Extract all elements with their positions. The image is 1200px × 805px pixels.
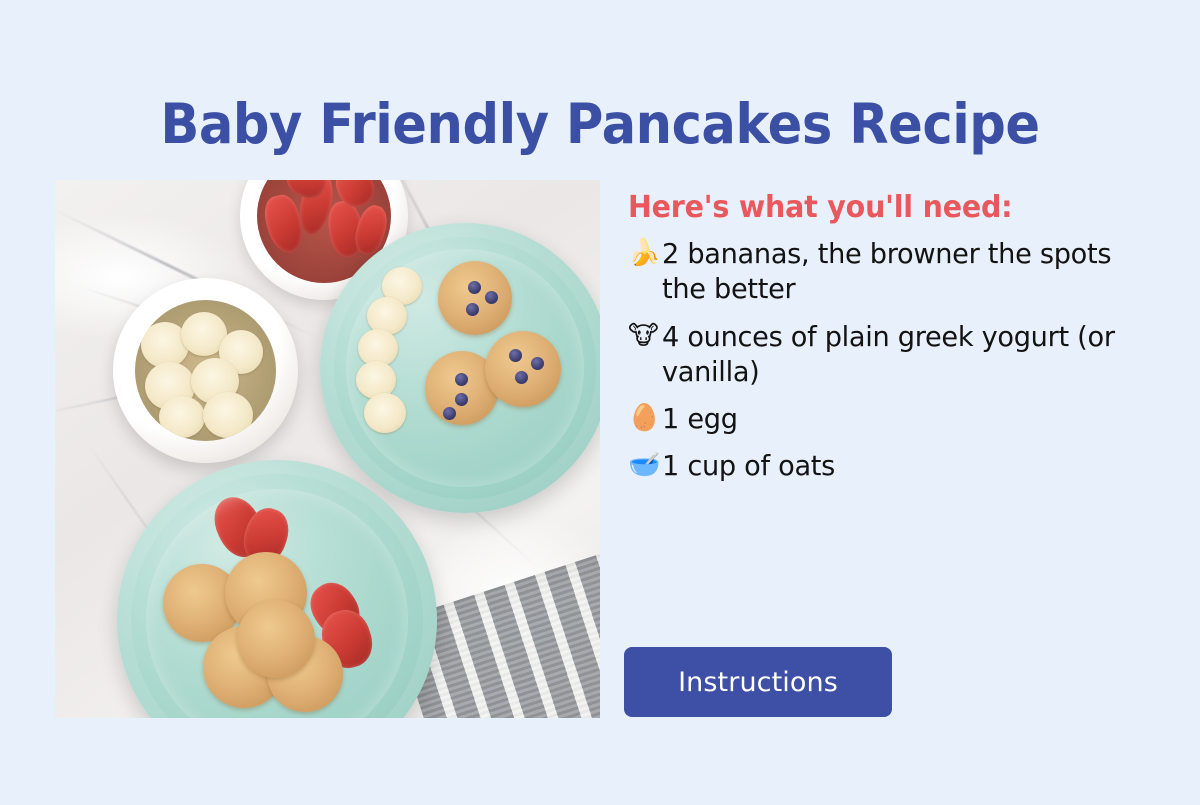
mini-pancake	[425, 351, 499, 425]
blueberry	[443, 407, 456, 420]
ingredient-text: 4 ounces of plain greek yogurt (or vanil…	[662, 319, 1141, 390]
mini-pancake	[438, 261, 512, 335]
ingredient-text: 2 bananas, the browner the spots the bet…	[662, 236, 1141, 307]
cow-face-emoji: 🐮	[628, 319, 662, 353]
list-item: 🥚 1 egg	[628, 401, 1156, 436]
instructions-button[interactable]: Instructions	[624, 647, 892, 717]
blueberry	[531, 357, 544, 370]
strawberry-slice	[315, 604, 379, 674]
banana-slice	[356, 361, 396, 399]
list-item: 🍌 2 bananas, the browner the spots the b…	[628, 236, 1156, 307]
mini-pancake	[267, 636, 343, 712]
mini-pancake	[203, 626, 285, 708]
blueberry	[509, 349, 522, 362]
ingredient-text: 1 cup of oats	[662, 448, 1141, 483]
banana-bowl-contents	[135, 300, 276, 441]
ingredients-list: 🍌 2 bananas, the browner the spots the b…	[628, 236, 1156, 484]
bowl-with-spoon-emoji: 🥣	[628, 448, 662, 482]
list-item: 🥣 1 cup of oats	[628, 448, 1156, 483]
banana-emoji: 🍌	[628, 236, 662, 270]
banana-slice	[364, 393, 406, 433]
blueberry	[515, 371, 528, 384]
banana-bowl	[113, 278, 298, 463]
list-item: 🐮 4 ounces of plain greek yogurt (or van…	[628, 319, 1156, 390]
mini-pancake	[163, 564, 241, 642]
banana-slice	[367, 297, 407, 335]
egg-emoji: 🥚	[628, 401, 662, 435]
strawberry-slice	[302, 574, 369, 643]
banana-slice	[358, 329, 398, 367]
recipe-photo	[55, 180, 600, 718]
strawberry-slice	[206, 489, 273, 564]
banana-slice	[203, 392, 253, 438]
blueberry	[455, 393, 468, 406]
banana-slice	[159, 396, 205, 438]
mini-pancake	[485, 331, 561, 407]
pancake-plate-top	[320, 223, 600, 513]
blueberry	[455, 373, 468, 386]
page-title: Baby Friendly Pancakes Recipe	[42, 94, 1158, 155]
banana-slice	[382, 267, 422, 305]
mini-pancake	[237, 600, 315, 678]
blueberry	[468, 281, 481, 294]
ingredient-text: 1 egg	[662, 401, 1141, 436]
ingredients-heading: Here's what you'll need:	[628, 190, 1130, 225]
mini-pancake	[225, 552, 307, 634]
blueberry	[485, 291, 498, 304]
ingredients-panel: Here's what you'll need: 🍌 2 bananas, th…	[628, 190, 1156, 496]
blueberry	[466, 303, 479, 316]
strawberry-slice	[237, 503, 294, 569]
recipe-card: Baby Friendly Pancakes Recipe	[0, 0, 1200, 805]
